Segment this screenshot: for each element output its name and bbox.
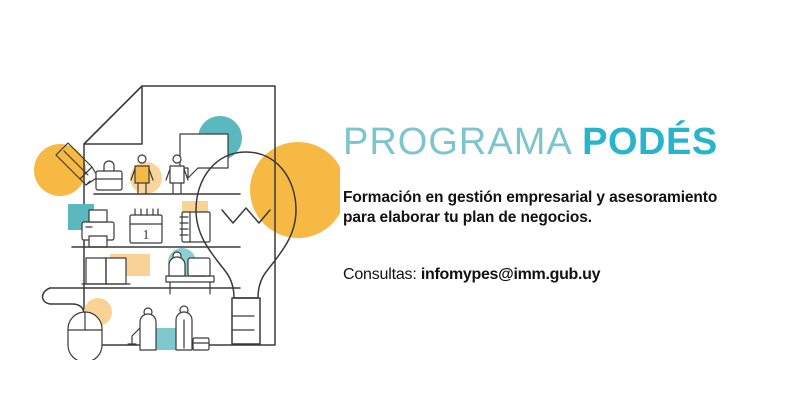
calendar-icon: 1 (130, 209, 162, 243)
text-block: PROGRAMA PODÉS Formación en gestión empr… (343, 120, 793, 286)
svg-text:1: 1 (143, 228, 150, 243)
contact-line: Consultas: infomypes@imm.gub.uy (343, 228, 793, 286)
shelf-second: 1 (68, 201, 240, 247)
page-outline (84, 86, 275, 345)
computer-mouse-icon (68, 312, 102, 360)
speech-bubble-icon (180, 134, 228, 178)
title-podes-word: PODÉS (582, 121, 718, 163)
promo-banner: .ln { fill:none; stroke:#3A3A3A; stroke-… (0, 0, 800, 420)
contact-label: Consultas: (343, 266, 421, 283)
briefcase-icon (96, 161, 122, 190)
notebook-icon (180, 212, 210, 242)
subtitle-line-2: para elaborar tu plan de negocios. (343, 208, 793, 228)
subtitle: Formación en gestión empresarial y aseso… (343, 164, 793, 228)
page-title: PROGRAMA PODÉS (343, 120, 793, 164)
open-book-icon (82, 258, 130, 284)
shelf-third (50, 248, 240, 294)
contact-email[interactable]: infomypes@imm.gub.uy (421, 266, 600, 283)
shelf-bottom (43, 288, 210, 360)
subtitle-line-1: Formación en gestión empresarial y aseso… (343, 188, 793, 208)
illustration-document-lightbulb: .ln { fill:none; stroke:#3A3A3A; stroke-… (30, 60, 340, 360)
title-program-word: PROGRAMA (343, 121, 582, 163)
